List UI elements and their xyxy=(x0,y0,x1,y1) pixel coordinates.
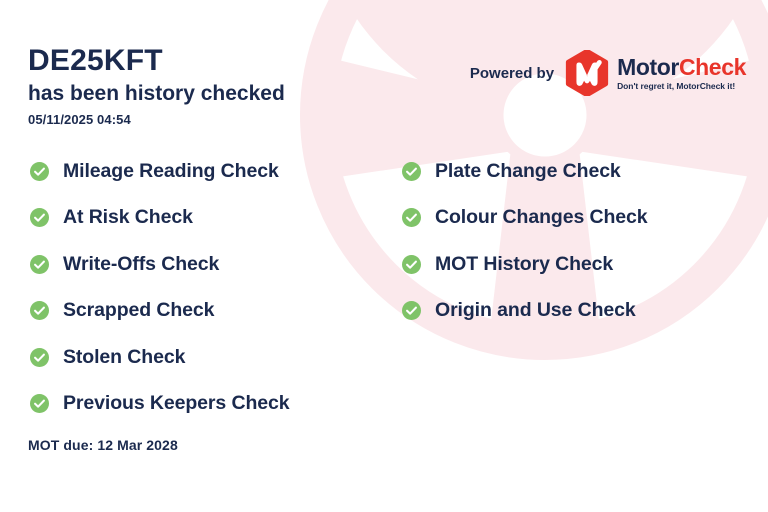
check-item-label: Stolen Check xyxy=(63,346,185,369)
check-item-label: Write-Offs Check xyxy=(63,253,219,276)
checks-column-left: Mileage Reading Check At Risk Check Writ… xyxy=(30,148,402,427)
check-item: Previous Keepers Check xyxy=(30,381,402,428)
check-item: Origin and Use Check xyxy=(402,288,742,335)
check-item-label: Plate Change Check xyxy=(435,160,621,183)
motorcheck-hexagon-icon xyxy=(565,50,609,96)
check-circle-icon xyxy=(402,255,421,274)
logo-tagline: Don't regret it, MotorCheck it! xyxy=(617,82,746,91)
page-title: has been history checked xyxy=(28,81,448,106)
check-item: At Risk Check xyxy=(30,195,402,242)
check-item-label: At Risk Check xyxy=(63,206,193,229)
check-item: Plate Change Check xyxy=(402,148,742,195)
check-item: Stolen Check xyxy=(30,334,402,381)
powered-by-block: Powered by MotorCheck Don't regret it, M… xyxy=(470,50,746,96)
check-circle-icon xyxy=(30,162,49,181)
checks-section: Mileage Reading Check At Risk Check Writ… xyxy=(30,148,742,427)
powered-by-label: Powered by xyxy=(470,65,554,82)
check-item-label: Mileage Reading Check xyxy=(63,160,279,183)
check-circle-icon xyxy=(30,348,49,367)
check-circle-icon xyxy=(30,255,49,274)
check-circle-icon xyxy=(402,208,421,227)
check-item-label: Colour Changes Check xyxy=(435,206,648,229)
report-timestamp: 05/11/2025 04:54 xyxy=(28,112,448,127)
check-circle-icon xyxy=(30,301,49,320)
check-circle-icon xyxy=(402,162,421,181)
mot-due-label: MOT due: 12 Mar 2028 xyxy=(28,437,178,453)
check-circle-icon xyxy=(402,301,421,320)
check-item: Write-Offs Check xyxy=(30,241,402,288)
footer: MOT due: 12 Mar 2028 xyxy=(28,437,178,455)
motorcheck-logo[interactable]: MotorCheck Don't regret it, MotorCheck i… xyxy=(565,50,746,96)
check-item-label: Origin and Use Check xyxy=(435,299,636,322)
check-item: Mileage Reading Check xyxy=(30,148,402,195)
check-item-label: Previous Keepers Check xyxy=(63,392,290,415)
logo-word-check: Check xyxy=(679,54,746,80)
motorcheck-wordmark: MotorCheck Don't regret it, MotorCheck i… xyxy=(617,56,746,91)
registration-plate: DE25KFT xyxy=(28,44,448,78)
check-circle-icon xyxy=(30,394,49,413)
header: DE25KFT has been history checked 05/11/2… xyxy=(28,44,448,127)
vehicle-history-check-card: DE25KFT has been history checked 05/11/2… xyxy=(0,0,768,512)
check-item: MOT History Check xyxy=(402,241,742,288)
check-circle-icon xyxy=(30,208,49,227)
check-item-label: Scrapped Check xyxy=(63,299,214,322)
checks-column-right: Plate Change Check Colour Changes Check … xyxy=(402,148,742,334)
check-item: Colour Changes Check xyxy=(402,195,742,242)
check-item-label: MOT History Check xyxy=(435,253,613,276)
logo-word-motor: Motor xyxy=(617,54,679,80)
check-item: Scrapped Check xyxy=(30,288,402,335)
